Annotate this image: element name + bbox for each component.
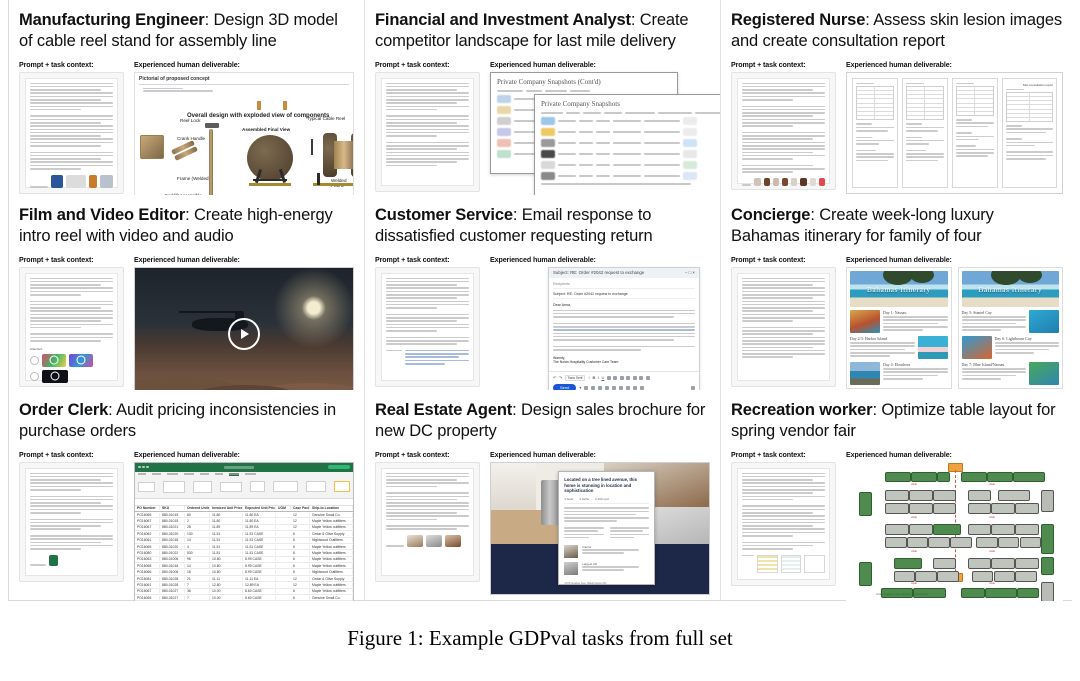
play-button[interactable]	[228, 318, 260, 350]
deliverable-pane: Experienced human deliverable:	[134, 256, 354, 390]
attachment-label: Attached:	[30, 347, 113, 351]
spreadsheet-cell[interactable]: 11.51 CASE	[243, 538, 276, 542]
itinerary-day-title: Day 5: Staniel Cay	[962, 310, 1027, 315]
spreadsheet-cell[interactable]: 8.99 CASE	[243, 564, 276, 568]
format-toolbar[interactable]: ↶ ↷ Sans Serif ↕ B I U	[553, 375, 695, 381]
spreadsheet-cell[interactable]: 28	[185, 525, 210, 529]
itinerary-photo	[962, 336, 992, 359]
sheet-icon	[66, 175, 86, 188]
spreadsheet-cell[interactable]: Maple Yellow outfitters	[310, 519, 353, 523]
image-icon[interactable]	[619, 386, 623, 390]
excel-formula-bar[interactable]	[135, 499, 353, 506]
task-separator: :	[512, 401, 521, 419]
spreadsheet-cell[interactable]: 11.80	[210, 513, 243, 517]
spreadsheet-cell[interactable]: 11.11	[210, 577, 243, 581]
spreadsheet-cell[interactable]: PO16061	[135, 583, 160, 587]
play-icon	[50, 356, 59, 365]
font-size-icon[interactable]: ↕	[588, 375, 590, 380]
task-separator: :	[865, 11, 873, 29]
spreadsheet-cell[interactable]: Maple Yellow outfitters	[310, 564, 353, 568]
deliverable-label: Experienced human deliverable:	[846, 451, 1063, 459]
email-greeting: Dear Anna,	[553, 303, 695, 307]
spreadsheet-cell[interactable]: 8.60 CASE	[243, 589, 276, 593]
deliverable-pane: Experienced human deliverable: Located o…	[490, 451, 710, 595]
spreadsheet-cell[interactable]: 12	[291, 583, 310, 587]
itinerary-hero: Bahamas Itinerary	[850, 271, 948, 307]
deliverable-label: Experienced human deliverable:	[134, 61, 354, 69]
spreadsheet-cell[interactable]: 880-01020	[160, 532, 185, 536]
spreadsheet-cell[interactable]: 6	[291, 538, 310, 542]
spreadsheet-cell[interactable]: 12	[291, 513, 310, 517]
figure-caption: Figure 1: Example GDPval tasks from full…	[0, 626, 1080, 651]
task-occupation: Customer Service	[375, 206, 513, 224]
spreadsheet-cell[interactable]: 10.80	[210, 564, 243, 568]
align-icon[interactable]	[613, 376, 617, 380]
prompt-document-sheet	[737, 273, 830, 381]
brochure-meta: 2,400 sq ft	[595, 497, 609, 501]
prompt-document-sheet: Attached:	[25, 273, 118, 381]
deliverable-label: Experienced human deliverable:	[134, 451, 354, 459]
reference-photo	[445, 535, 461, 547]
spreadsheet-cell[interactable]: PO16062	[135, 532, 160, 536]
lesion-swatch	[791, 178, 797, 186]
prompt-document-sheet	[737, 468, 830, 580]
spreadsheet-cell[interactable]: PO16067	[135, 525, 160, 529]
spreadsheet-cell[interactable]: 11.89	[210, 525, 243, 529]
italic-icon[interactable]: I	[598, 375, 599, 380]
prompt-document-sheet	[737, 78, 830, 184]
indent-more-icon[interactable]	[639, 376, 643, 380]
itinerary-photo	[1029, 362, 1059, 385]
task-cell-customer-service: Customer Service: Email response to diss…	[365, 195, 721, 390]
prompt-document-card	[19, 462, 124, 582]
slide-assembled-title: Assembled Final View	[242, 127, 290, 132]
video-thumbnail	[69, 354, 93, 367]
prompt-document-card	[375, 72, 480, 192]
undo-icon[interactable]: ↶	[553, 375, 556, 380]
spreadsheet-cell[interactable]: 7	[185, 596, 210, 600]
spreadsheet-cell[interactable]: 11.11 EA	[243, 577, 276, 581]
prompt-document-sheet	[25, 78, 118, 188]
spreadsheet-cell[interactable]: 14	[185, 564, 210, 568]
image-icon	[89, 175, 97, 188]
deliverable-pane: Experienced human deliverable: Subject: …	[490, 256, 710, 390]
task-occupation: Order Clerk	[19, 401, 108, 419]
col-header: SKU	[160, 506, 185, 510]
spreadsheet-cell[interactable]: PO16065	[135, 513, 160, 517]
window-maximize-icon[interactable]	[146, 466, 149, 469]
spreadsheet-cell[interactable]: 80	[185, 513, 210, 517]
deliverable-pane: Experienced human deliverable:	[846, 451, 1063, 601]
window-close-icon[interactable]	[138, 466, 141, 469]
spreadsheet-cell[interactable]: 21	[185, 577, 210, 581]
prompt-pane: Prompt + task context:	[375, 61, 480, 195]
spreadsheet-cell[interactable]: PO16080	[135, 551, 160, 555]
lesion-swatch	[800, 178, 806, 186]
spreadsheet-cell[interactable]: 11.80	[210, 519, 243, 523]
excel-ribbon[interactable]	[135, 472, 353, 499]
spreadsheet-cell[interactable]: 880-01022	[160, 551, 185, 555]
floorplan-note: Green tables have access to electricity	[876, 592, 927, 596]
deliverable-label: Experienced human deliverable:	[134, 256, 354, 264]
spreadsheet-cell[interactable]: 10.00	[210, 596, 243, 600]
spreadsheet-cell[interactable]: 2	[185, 519, 210, 523]
figure-page: Manufacturing Engineer: Design 3D model …	[0, 0, 1080, 681]
spreadsheet-cell[interactable]: 6	[291, 589, 310, 593]
window-minimize-icon[interactable]	[142, 466, 145, 469]
spreadsheet-cell[interactable]: 880-01027	[160, 589, 185, 593]
excel-titlebar	[135, 463, 353, 472]
lesion-swatch	[819, 178, 825, 186]
spreadsheet-cell[interactable]: 880-01015	[160, 513, 185, 517]
lesion-swatch	[773, 178, 779, 186]
spreadsheet-cell[interactable]: 880-01018	[160, 538, 185, 542]
spreadsheet-cell[interactable]: 10.80	[210, 570, 243, 574]
deliverable-pane: Experienced human deliverable:	[846, 61, 1063, 194]
col-header: Expected Unit Price	[243, 506, 276, 510]
deliverable-label: Experienced human deliverable:	[490, 61, 710, 69]
spreadsheet-cell[interactable]: 8.99 CASE	[243, 570, 276, 574]
prompt-pane: Prompt + task context:	[19, 451, 124, 601]
spreadsheet-cell[interactable]: 8.99 CASE	[243, 557, 276, 561]
spreadsheet-cell[interactable]: 12.80	[210, 583, 243, 587]
brochure-meta: 3 baths	[579, 497, 589, 501]
spreadsheet-cell[interactable]: 6	[291, 532, 310, 536]
brochure-preview: Located on a tree lined avenue, this hom…	[490, 462, 710, 595]
prompt-document-sheet	[381, 78, 474, 186]
spreadsheet-cell[interactable]: 6	[291, 596, 310, 600]
task-separator: :	[513, 206, 522, 224]
spreadsheet-cell[interactable]: 11.51	[210, 532, 243, 536]
spreadsheet-cell[interactable]: Maple Yellow outfitters	[310, 545, 353, 549]
itinerary-page-2: Bahamas Itinerary Day 5: Staniel Cay	[958, 267, 1064, 389]
itinerary-day-title: Day 4: Eleuthera	[883, 362, 948, 367]
spreadsheet-cell[interactable]: 11.89 EA	[243, 525, 276, 529]
email-recipients[interactable]: Recipients	[553, 282, 695, 289]
itinerary-photo	[918, 336, 948, 359]
share-button[interactable]	[328, 465, 350, 469]
itinerary-day-title: Day 1: Nassau	[883, 310, 948, 315]
task-cell-registered-nurse: Registered Nurse: Assess skin lesion ima…	[721, 0, 1073, 195]
deliverable-label: Experienced human deliverable:	[846, 61, 1063, 69]
spreadsheet-cell[interactable]: Nightwood Outfitters	[310, 538, 353, 542]
prompt-document-sheet	[381, 468, 474, 576]
spreadsheet-cell[interactable]: 11.80 EA	[243, 513, 276, 517]
col-header: UOM	[276, 506, 291, 510]
lesion-swatch	[810, 178, 816, 186]
aisle-label: Aisle	[911, 550, 917, 553]
itinerary-entry: Day 5: Staniel Cay	[962, 310, 1060, 333]
task-occupation: Financial and Investment Analyst	[375, 11, 631, 29]
spreadsheet-cell[interactable]: 880-01027	[160, 596, 185, 600]
spreadsheet-cell[interactable]: PO16081	[135, 577, 160, 581]
spreadsheet-cell[interactable]: 11.51 CASE	[243, 532, 276, 536]
spreadsheet-cell[interactable]: 11.80 EA	[243, 519, 276, 523]
task-title: Film and Video Editor: Create high-energ…	[19, 205, 354, 247]
reference-photo	[407, 535, 423, 547]
spreadsheet-cell[interactable]: 880-01028	[160, 583, 185, 587]
excel-grid[interactable]: PO Number SKU Ordered Units Invoiced Uni…	[135, 506, 353, 601]
deliverable-pane: Experienced human deliverable: Pictorial…	[134, 61, 354, 195]
spreadsheet-cell[interactable]: 10.80	[210, 557, 243, 561]
prompt-label: Prompt + task context:	[375, 256, 480, 264]
word-doc-icon	[51, 175, 63, 188]
prompt-document-sheet	[25, 468, 118, 576]
brochure-meta: 4 beds	[564, 497, 573, 501]
task-title: Real Estate Agent: Design sales brochure…	[375, 400, 710, 442]
video-thumbnail	[42, 370, 68, 383]
cad-icon	[100, 175, 113, 188]
aisle-label: Aisle	[989, 516, 995, 519]
video-player[interactable]	[134, 267, 354, 390]
col-header: Ship-to Location	[310, 506, 353, 510]
underline-icon[interactable]: U	[601, 375, 604, 380]
task-separator: :	[631, 11, 640, 29]
task-grid: Manufacturing Engineer: Design 3D model …	[8, 0, 1072, 601]
task-separator: :	[185, 206, 194, 224]
spreadsheet-cell[interactable]: 6	[291, 557, 310, 561]
task-title: Order Clerk: Audit pricing inconsistenci…	[19, 400, 354, 442]
prompt-label: Prompt + task context:	[375, 61, 480, 69]
spreadsheet-cell[interactable]: 12	[291, 525, 310, 529]
spreadsheet-cell[interactable]: 12	[291, 519, 310, 523]
itinerary-day-title: Day 2/3: Harbor Island	[850, 336, 915, 341]
panes: Prompt + task context:	[731, 256, 1063, 389]
annotation-typical-cable-reel: Typical Cable Reel	[307, 116, 345, 121]
list-numbered-icon[interactable]	[620, 376, 624, 380]
stacked-tables: Private Company Snapshots (Cont'd) Priva…	[490, 72, 710, 195]
deliverable-label: Experienced human deliverable:	[490, 451, 710, 459]
spreadsheet-cell[interactable]: 880-01006	[160, 570, 185, 574]
spreadsheet-rows[interactable]: PO16065880-010158011.8011.80 EA12Genuine…	[135, 512, 353, 601]
task-title: Recreation worker: Optimize table layout…	[731, 400, 1063, 442]
prompt-label: Prompt + task context:	[19, 451, 124, 459]
task-title: Customer Service: Email response to diss…	[375, 205, 710, 247]
spreadsheet-cell[interactable]: PO16065	[135, 545, 160, 549]
bold-icon[interactable]: B	[592, 375, 595, 380]
prompt-document-card	[375, 462, 480, 582]
spreadsheet-cell[interactable]: 7	[185, 583, 210, 587]
email-subject[interactable]: Subject: RE: Order #2042 request to exch…	[553, 292, 695, 299]
prompt-pane: Prompt + task context:	[375, 256, 480, 390]
signature-icon[interactable]	[633, 386, 637, 390]
itinerary-hero-title: Bahamas Itinerary	[962, 285, 1060, 294]
spreadsheet-cell[interactable]: 6	[291, 551, 310, 555]
spreadsheet-cell[interactable]: Cedar & Olive Supply	[310, 577, 353, 581]
spreadsheet-cell[interactable]: 36	[185, 589, 210, 593]
panes: Prompt + task context:	[375, 256, 710, 390]
brochure-headline: Located on a tree lined avenue, this hom…	[564, 477, 649, 494]
task-title: Registered Nurse: Assess skin lesion ima…	[731, 10, 1063, 52]
emoji-icon[interactable]	[605, 386, 609, 390]
text-color-icon[interactable]	[607, 376, 611, 380]
task-cell-manufacturing-engineer: Manufacturing Engineer: Design 3D model …	[9, 0, 365, 195]
spreadsheet-cell[interactable]: 6	[291, 545, 310, 549]
panes: Prompt + task context:	[731, 61, 1063, 194]
font-select[interactable]: Sans Serif	[565, 375, 586, 381]
prompt-pane: Prompt + task context:	[375, 451, 480, 595]
aisle-label: Aisle	[989, 550, 995, 553]
spreadsheet-cell[interactable]: 11.51 CASE	[243, 545, 276, 549]
task-occupation: Registered Nurse	[731, 11, 865, 29]
task-cell-concierge: Concierge: Create week-long luxury Baham…	[721, 195, 1073, 390]
spreadsheet-cell[interactable]: 8.60 CASE	[243, 596, 276, 600]
indent-less-icon[interactable]	[633, 376, 637, 380]
spreadsheet-cell[interactable]: Genuine Small Co.	[310, 513, 353, 517]
spreadsheet-cell[interactable]: 12.89 EA	[243, 583, 276, 587]
panes: Prompt + task context:	[19, 451, 354, 601]
spreadsheet-cell[interactable]: 11.51	[210, 551, 243, 555]
confidential-icon[interactable]	[626, 386, 630, 390]
spreadsheet-cell[interactable]: 530	[185, 551, 210, 555]
discard-draft-icon[interactable]	[691, 386, 695, 390]
prompt-pane: Prompt + task context: Attached:	[19, 256, 124, 390]
play-icon	[51, 372, 60, 381]
prompt-document-card	[731, 72, 836, 190]
report-page	[852, 78, 898, 188]
spreadsheet-cell[interactable]: 14	[185, 538, 210, 542]
spreadsheet-cell[interactable]: 18	[185, 570, 210, 574]
window-controls[interactable]: − □ ×	[685, 270, 695, 275]
snapshot-title: Private Company Snapshots	[541, 100, 721, 108]
email-window-titlebar: Subject: RE: Order #2042 request to exch…	[549, 268, 699, 278]
video-thumbnail-row	[30, 354, 113, 367]
video-thumbnail-row-2	[30, 370, 113, 383]
panes: Prompt + task context:	[19, 61, 354, 195]
spreadsheet-cell[interactable]: 11.51 CASE	[243, 551, 276, 555]
brochure-footer-address: 1705 Golden Ave, Washington DC	[564, 581, 649, 585]
floorplan-diagram: Green tables have access to electricity …	[846, 462, 1063, 601]
prompt-label: Prompt + task context:	[375, 451, 480, 459]
prompt-pane: Prompt + task context:	[731, 256, 836, 389]
aisle-label: Aisle	[911, 582, 917, 585]
itinerary-entry: Day 1: Nassau	[850, 310, 948, 333]
spreadsheet-cell[interactable]: PO16065	[135, 596, 160, 600]
lesion-swatch	[764, 178, 770, 186]
email-body[interactable]: Recipients Subject: RE: Order #2042 requ…	[549, 278, 699, 371]
formatting-icon[interactable]	[584, 386, 588, 390]
itinerary-hero-title: Bahamas Itinerary	[850, 285, 948, 294]
spreadsheet-cell[interactable]: 96	[185, 557, 210, 561]
spreadsheet-cell[interactable]: 11.51	[210, 545, 243, 549]
spreadsheet-cell[interactable]: 11.51	[210, 538, 243, 542]
prompt-document-sheet	[381, 273, 474, 381]
task-cell-recreation-worker: Recreation worker: Optimize table layout…	[721, 390, 1073, 601]
report-page	[902, 78, 948, 188]
task-separator: :	[108, 401, 116, 419]
prompt-label: Prompt + task context:	[19, 256, 124, 264]
panes: Prompt + task context:	[375, 451, 710, 595]
panes: Prompt + task context: Attached:	[19, 256, 354, 390]
spreadsheet-cell[interactable]: 880-01020	[160, 545, 185, 549]
annotation-reel-lock: Reel Lock	[180, 118, 200, 123]
itinerary-photo	[850, 310, 880, 333]
spreadsheet-cell[interactable]: Maple Yellow outfitters	[310, 583, 353, 587]
report-page-title: Skin consultation report	[1006, 83, 1053, 87]
lesion-swatch	[782, 178, 788, 186]
spreadsheet-cell[interactable]: 880-01006	[160, 557, 185, 561]
deliverable-pane: Experienced human deliverable:	[134, 451, 354, 601]
spreadsheet-cell[interactable]: Maple Yellow outfitters	[310, 589, 353, 593]
itinerary-hero: Bahamas Itinerary	[962, 271, 1060, 307]
spreadsheet-cell[interactable]: 6	[291, 564, 310, 568]
prompt-pane: Prompt + task context:	[19, 61, 124, 195]
col-header: Ordered Units	[185, 506, 210, 510]
task-separator: :	[810, 206, 819, 224]
itinerary-page-1: Bahamas Itinerary Day 1: Nassau	[846, 267, 952, 389]
prompt-document-card	[19, 72, 124, 194]
deliverable-pane: Experienced human deliverable: Private C…	[490, 61, 710, 195]
more-format-icon[interactable]	[646, 376, 650, 380]
spreadsheet-cell[interactable]: 4	[185, 545, 210, 549]
redo-icon[interactable]: ↷	[559, 375, 562, 380]
link-icon[interactable]	[598, 386, 602, 390]
attach-icon[interactable]	[591, 386, 595, 390]
list-bulleted-icon[interactable]	[626, 376, 630, 380]
spreadsheet-cell[interactable]: PO16067	[135, 589, 160, 593]
spreadsheet-cell[interactable]: 130	[185, 532, 210, 536]
spreadsheet-cell[interactable]: PO16061	[135, 538, 160, 542]
itinerary-photo	[1029, 310, 1059, 333]
task-occupation: Manufacturing Engineer	[19, 11, 205, 29]
excel-filename	[224, 466, 254, 469]
spreadsheet-window[interactable]: PO Number SKU Ordered Units Invoiced Uni…	[134, 462, 354, 601]
spreadsheet-cell[interactable]: Maple Yellow outfitters	[310, 525, 353, 529]
audio-icon	[30, 356, 39, 365]
spreadsheet-cell[interactable]: Maple Yellow outfitters	[310, 557, 353, 561]
report-page: Skin consultation report	[1002, 78, 1057, 188]
spreadsheet-cell[interactable]: 12	[291, 577, 310, 581]
email-signature: The Nolan Hospitality Customer Care Team	[553, 360, 695, 364]
col-header: Invoiced Unit Price	[210, 506, 243, 510]
spreadsheet-cell[interactable]: Maple Yellow outfitters	[310, 551, 353, 555]
deliverable-label: Experienced human deliverable:	[846, 256, 1063, 264]
lesion-swatch	[754, 178, 760, 186]
spreadsheet-cell[interactable]: 10.00	[210, 589, 243, 593]
spreadsheet-cell[interactable]: PO16063	[135, 557, 160, 561]
spreadsheet-cell[interactable]: 880-01018	[160, 564, 185, 568]
itinerary-day-title: Day 6: Lighthouse Cay	[995, 336, 1060, 341]
spreadsheet-cell[interactable]: Nightwood Outfitters	[310, 570, 353, 574]
prompt-document-card	[731, 462, 836, 586]
more-options-icon[interactable]	[640, 386, 644, 390]
spreadsheet-cell[interactable]: Cedar & Olive Supply	[310, 532, 353, 536]
spreadsheet-cell[interactable]: 880-01028	[160, 577, 185, 581]
reference-photo	[426, 535, 442, 547]
email-window-title: Subject: RE: Order #2042 request to exch…	[553, 270, 644, 275]
spreadsheet-cell[interactable]: 6	[291, 570, 310, 574]
prompt-label: Prompt + task context:	[731, 61, 836, 69]
spreadsheet-cell[interactable]: PO16067	[135, 519, 160, 523]
col-header: PO Number	[135, 506, 160, 510]
report-pages: Skin consultation report	[846, 72, 1063, 194]
itinerary-entry: Day 4: Eleuthera	[850, 362, 948, 385]
spreadsheet-cell[interactable]: 880-01015	[160, 519, 185, 523]
spreadsheet-cell[interactable]: PO16068	[135, 564, 160, 568]
email-compose-window[interactable]: Subject: RE: Order #2042 request to exch…	[548, 267, 700, 390]
snapshot-title: Private Company Snapshots (Cont'd)	[497, 78, 671, 86]
spreadsheet-cell[interactable]: Genuine Small Co.	[310, 596, 353, 600]
spreadsheet-cell[interactable]: PO16066	[135, 570, 160, 574]
drive-icon[interactable]	[612, 386, 616, 390]
spreadsheet-cell[interactable]: 880-01021	[160, 525, 185, 529]
email-toolbar[interactable]: ↶ ↷ Sans Serif ↕ B I U	[549, 371, 699, 390]
task-title: Concierge: Create week-long luxury Baham…	[731, 205, 1063, 247]
spreadsheet-row[interactable]: PO16065880-01027710.008.60 CASE6Genuine …	[135, 595, 353, 601]
task-separator: :	[872, 401, 881, 419]
play-triangle-icon	[241, 329, 249, 339]
task-title: Financial and Investment Analyst: Create…	[375, 10, 710, 52]
